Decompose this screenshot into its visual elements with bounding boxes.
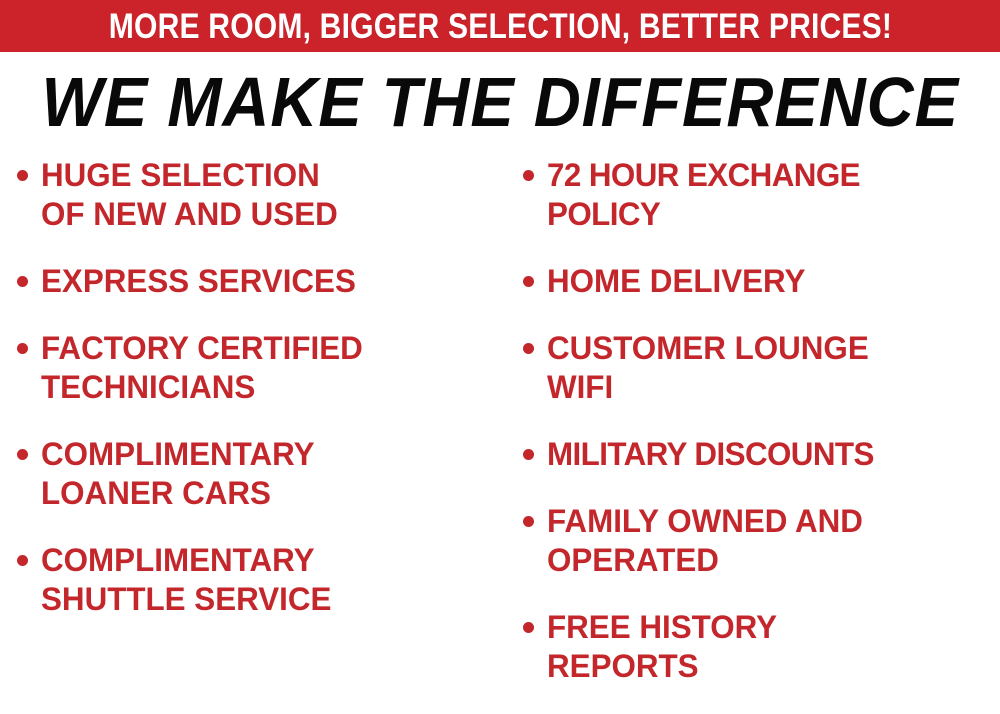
list-item-label: COMPLIMENTARY LOANER CARS [41, 435, 315, 513]
bullet-dot-icon [523, 622, 534, 633]
list-item: CUSTOMER LOUNGE WIFI [523, 329, 1000, 407]
list-item: COMPLIMENTARY LOANER CARS [17, 435, 505, 513]
list-item: 72 HOUR EXCHANGE POLICY [523, 156, 1000, 234]
list-item-label: HOME DELIVERY [547, 262, 805, 301]
list-item-label: EXPRESS SERVICES [41, 262, 356, 301]
features-column-right: 72 HOUR EXCHANGE POLICY HOME DELIVERY CU… [505, 156, 1000, 714]
features-column-left: HUGE SELECTION OF NEW AND USED EXPRESS S… [0, 156, 505, 714]
bullet-dot-icon [17, 170, 28, 181]
list-item: FACTORY CERTIFIED TECHNICIANS [17, 329, 505, 407]
list-item: MILITARY DISCOUNTS [523, 435, 1000, 474]
list-item-label: FACTORY CERTIFIED TECHNICIANS [41, 329, 363, 407]
bullet-dot-icon [523, 516, 534, 527]
list-item-label: FREE HISTORY REPORTS [547, 608, 777, 686]
promo-banner: MORE ROOM, BIGGER SELECTION, BETTER PRIC… [0, 0, 1000, 52]
bullet-dot-icon [17, 276, 28, 287]
list-item-label: HUGE SELECTION OF NEW AND USED [41, 156, 338, 234]
list-item-label: CUSTOMER LOUNGE WIFI [547, 329, 869, 407]
features-columns: HUGE SELECTION OF NEW AND USED EXPRESS S… [0, 148, 1000, 714]
list-item: HOME DELIVERY [523, 262, 1000, 301]
list-item: COMPLIMENTARY SHUTTLE SERVICE [17, 541, 505, 619]
promo-banner-text: MORE ROOM, BIGGER SELECTION, BETTER PRIC… [108, 9, 891, 44]
list-item: FREE HISTORY REPORTS [523, 608, 1000, 686]
bullet-dot-icon [523, 343, 534, 354]
bullet-dot-icon [17, 555, 28, 566]
list-item-label: FAMILY OWNED AND OPERATED [547, 502, 863, 580]
bullet-dot-icon [523, 170, 534, 181]
page-title: WE MAKE THE DIFFERENCE [41, 67, 958, 137]
bullet-dot-icon [523, 276, 534, 287]
bullet-dot-icon [17, 449, 28, 460]
list-item-label: COMPLIMENTARY SHUTTLE SERVICE [41, 541, 331, 619]
list-item-label: 72 HOUR EXCHANGE POLICY [547, 156, 860, 234]
bullet-dot-icon [523, 449, 534, 460]
bullet-dot-icon [17, 343, 28, 354]
list-item: HUGE SELECTION OF NEW AND USED [17, 156, 505, 234]
list-item-label: MILITARY DISCOUNTS [547, 435, 874, 474]
list-item: FAMILY OWNED AND OPERATED [523, 502, 1000, 580]
headline-container: WE MAKE THE DIFFERENCE [0, 52, 1000, 148]
list-item: EXPRESS SERVICES [17, 262, 505, 301]
